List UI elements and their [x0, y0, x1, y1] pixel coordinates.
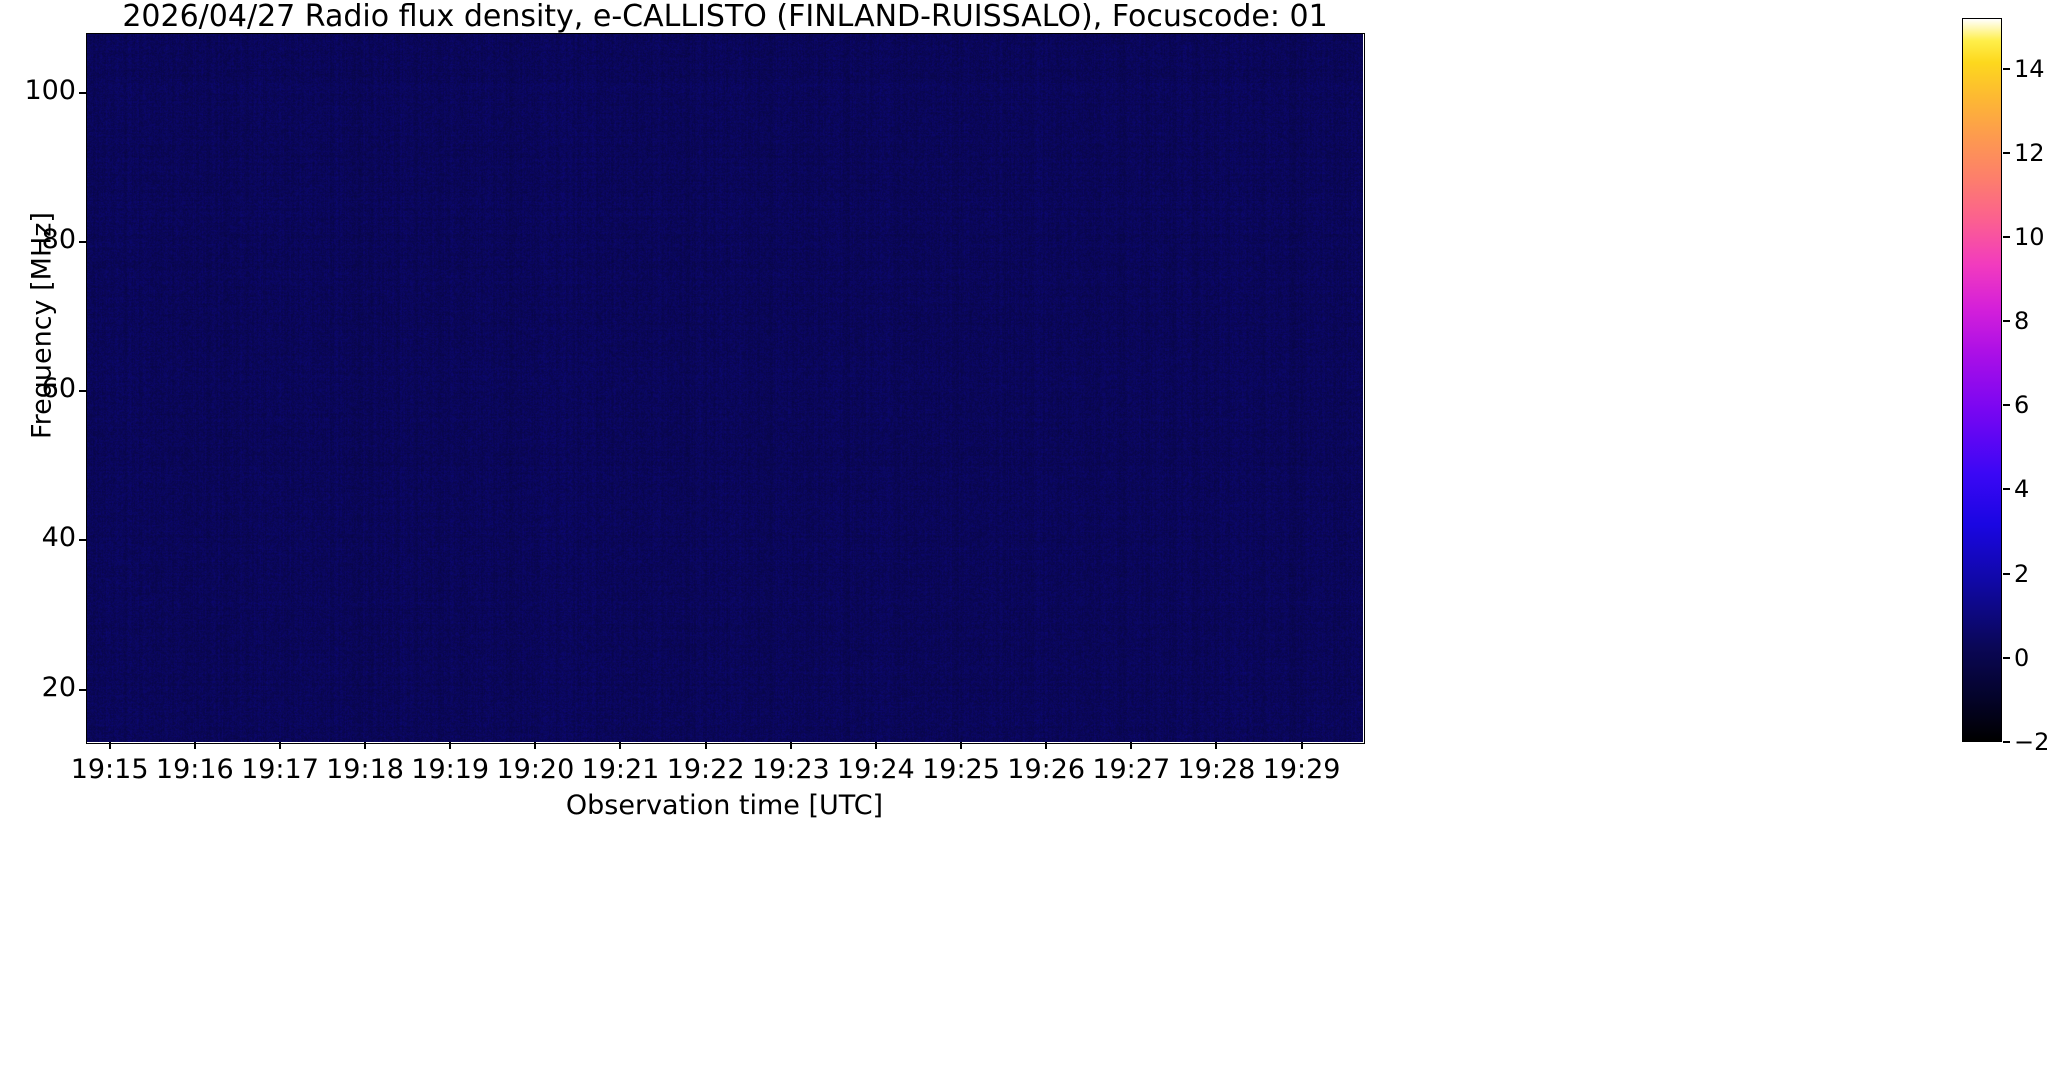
colorbar-tick-mark: [2003, 573, 2010, 575]
colorbar-gradient: [1962, 18, 2002, 742]
x-tick-mark: [960, 742, 962, 749]
y-tick-mark: [79, 390, 86, 392]
y-tick-mark: [79, 92, 86, 94]
colorbar[interactable]: −202468101214: [1962, 18, 2002, 742]
colorbar-tick-label: 6: [2014, 391, 2029, 419]
colorbar-tick-mark: [2003, 152, 2010, 154]
x-tick-label: 19:29: [1237, 754, 1367, 785]
colorbar-tick-mark: [2003, 404, 2010, 406]
spectrogram-heatmap[interactable]: [86, 33, 1363, 742]
x-tick-mark: [1045, 742, 1047, 749]
x-tick-mark: [875, 742, 877, 749]
heatmap-plot-area[interactable]: [86, 33, 1363, 742]
colorbar-tick-label: 4: [2014, 475, 2029, 503]
x-tick-mark: [790, 742, 792, 749]
colorbar-tick-label: 2: [2014, 560, 2029, 588]
page-title: 2026/04/27 Radio flux density, e-CALLIST…: [86, 2, 1364, 32]
x-tick-mark: [109, 742, 111, 749]
colorbar-tick-mark: [2003, 657, 2010, 659]
colorbar-tick-mark: [2003, 488, 2010, 490]
colorbar-tick-mark: [2003, 236, 2010, 238]
colorbar-tick-label: 14: [2014, 55, 2045, 83]
x-tick-mark: [1215, 742, 1217, 749]
x-tick-mark: [1301, 742, 1303, 749]
y-tick-label: 100: [6, 75, 76, 106]
x-axis-label: Observation time [UTC]: [86, 790, 1363, 821]
colorbar-tick-label: −2: [2014, 728, 2049, 756]
y-tick-label: 40: [6, 522, 76, 553]
y-tick-mark: [79, 241, 86, 243]
spectrogram-figure: 2026/04/27 Radio flux density, e-CALLIST…: [0, 0, 2066, 1067]
colorbar-tick-label: 0: [2014, 644, 2029, 672]
x-tick-mark: [534, 742, 536, 749]
x-tick-mark: [279, 742, 281, 749]
x-tick-mark: [194, 742, 196, 749]
x-tick-mark: [705, 742, 707, 749]
x-tick-mark: [364, 742, 366, 749]
x-tick-mark: [449, 742, 451, 749]
x-tick-mark: [619, 742, 621, 749]
y-axis-label: Frequency [MHz]: [27, 176, 58, 476]
y-tick-label: 20: [6, 672, 76, 703]
y-tick-mark: [79, 539, 86, 541]
x-tick-mark: [1130, 742, 1132, 749]
colorbar-tick-label: 10: [2014, 223, 2045, 251]
colorbar-tick-label: 12: [2014, 139, 2045, 167]
y-tick-mark: [79, 689, 86, 691]
colorbar-tick-mark: [2003, 320, 2010, 322]
colorbar-tick-mark: [2003, 68, 2010, 70]
colorbar-tick-label: 8: [2014, 307, 2029, 335]
colorbar-tick-mark: [2003, 741, 2010, 743]
